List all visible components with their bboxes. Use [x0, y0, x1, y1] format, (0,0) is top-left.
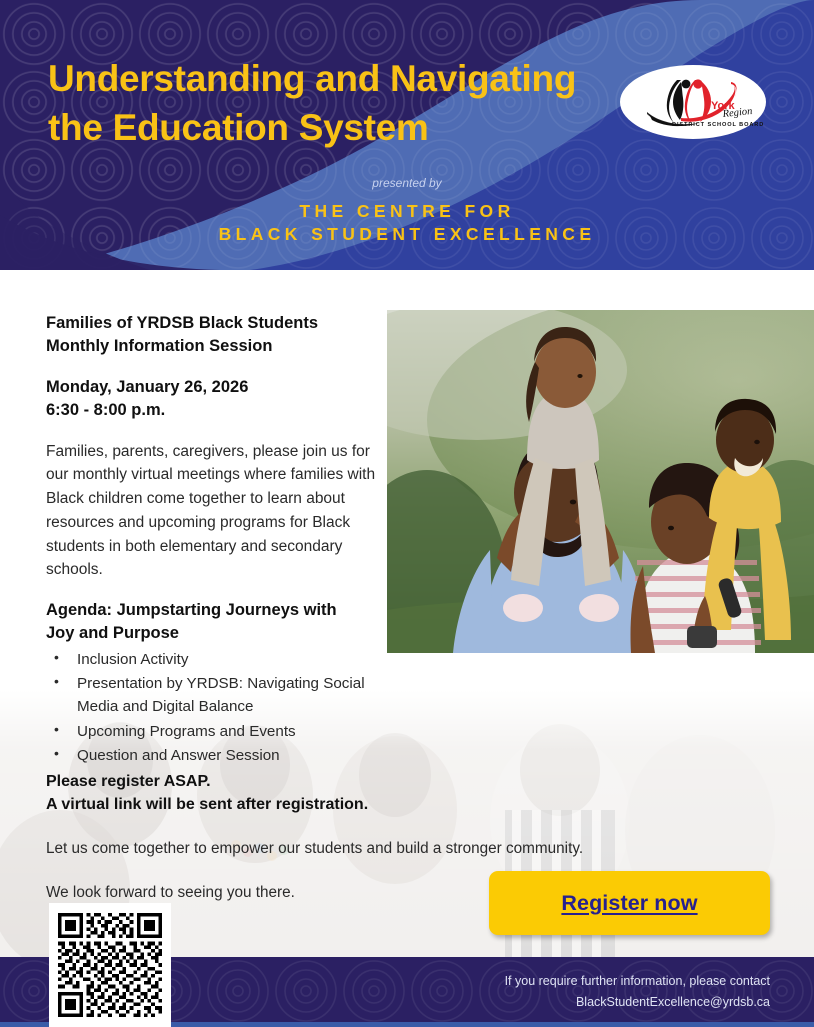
family-photo-illustration [387, 310, 814, 653]
daughter-shoe-right [579, 594, 619, 622]
qr-code-icon [58, 912, 162, 1018]
agenda-heading-line-1: Agenda: Jumpstarting Journeys with [46, 599, 381, 622]
mother-wristband [687, 626, 717, 648]
daughter-shoe-left [503, 594, 543, 622]
intro-paragraph: Families, parents, caregivers, please jo… [46, 440, 381, 582]
registration-qr-code[interactable] [49, 903, 171, 1027]
poster-root: Understanding and Navigating the Educati… [0, 0, 814, 1027]
intro-paragraph-text: Families, parents, caregivers, please jo… [46, 440, 381, 582]
agenda-block: Agenda: Jumpstarting Journeys with Joy a… [46, 599, 381, 767]
register-asap-line: Please register ASAP. [46, 770, 776, 793]
session-title-line-2: Monthly Information Session [46, 335, 381, 358]
presented-by-label: presented by [0, 176, 814, 190]
title-line-2: the Education System [48, 104, 618, 153]
datetime-block: Monday, January 26, 2026 6:30 - 8:00 p.m… [46, 376, 381, 423]
register-now-label: Register now [561, 891, 697, 916]
agenda-heading-line-2: Joy and Purpose [46, 622, 381, 645]
empower-line: Let us come together to empower our stud… [46, 837, 776, 860]
daughter-head [534, 336, 596, 408]
page-title: Understanding and Navigating the Educati… [48, 55, 618, 153]
logo-subtitle-text: DISTRICT SCHOOL BOARD [672, 122, 764, 128]
session-title-line-1: Families of YRDSB Black Students [46, 312, 381, 335]
family-photo [387, 310, 814, 653]
event-date: Monday, January 26, 2026 [46, 376, 381, 399]
session-title-block: Families of YRDSB Black Students Monthly… [46, 312, 381, 359]
footer-contact-block: If you require further information, plea… [505, 971, 770, 1012]
list-item: Upcoming Programs and Events [46, 720, 381, 743]
list-item: Inclusion Activity [46, 648, 381, 671]
list-item: Question and Answer Session [46, 744, 381, 767]
title-line-1: Understanding and Navigating [48, 55, 618, 104]
centre-name-line-1: THE CENTRE FOR [0, 201, 814, 222]
left-column: Families of YRDSB Black Students Monthly… [46, 312, 381, 768]
header-banner: Understanding and Navigating the Educati… [0, 0, 814, 270]
centre-name-line-2: BLACK STUDENT EXCELLENCE [0, 224, 814, 245]
agenda-list: Inclusion Activity Presentation by YRDSB… [46, 648, 381, 767]
list-item: Presentation by YRDSB: Navigating Social… [46, 672, 381, 719]
yrdsb-logo-icon: York Region DISTRICT SCHOOL BOARD [619, 64, 767, 140]
register-now-button[interactable]: Register now [489, 871, 770, 935]
event-time: 6:30 - 8:00 p.m. [46, 399, 381, 422]
footer-email[interactable]: BlackStudentExcellence@yrdsb.ca [505, 992, 770, 1013]
virtual-link-line: A virtual link will be sent after regist… [46, 793, 776, 816]
yrdsb-logo: York Region DISTRICT SCHOOL BOARD [619, 64, 767, 140]
footer-contact-line: If you require further information, plea… [505, 971, 770, 992]
